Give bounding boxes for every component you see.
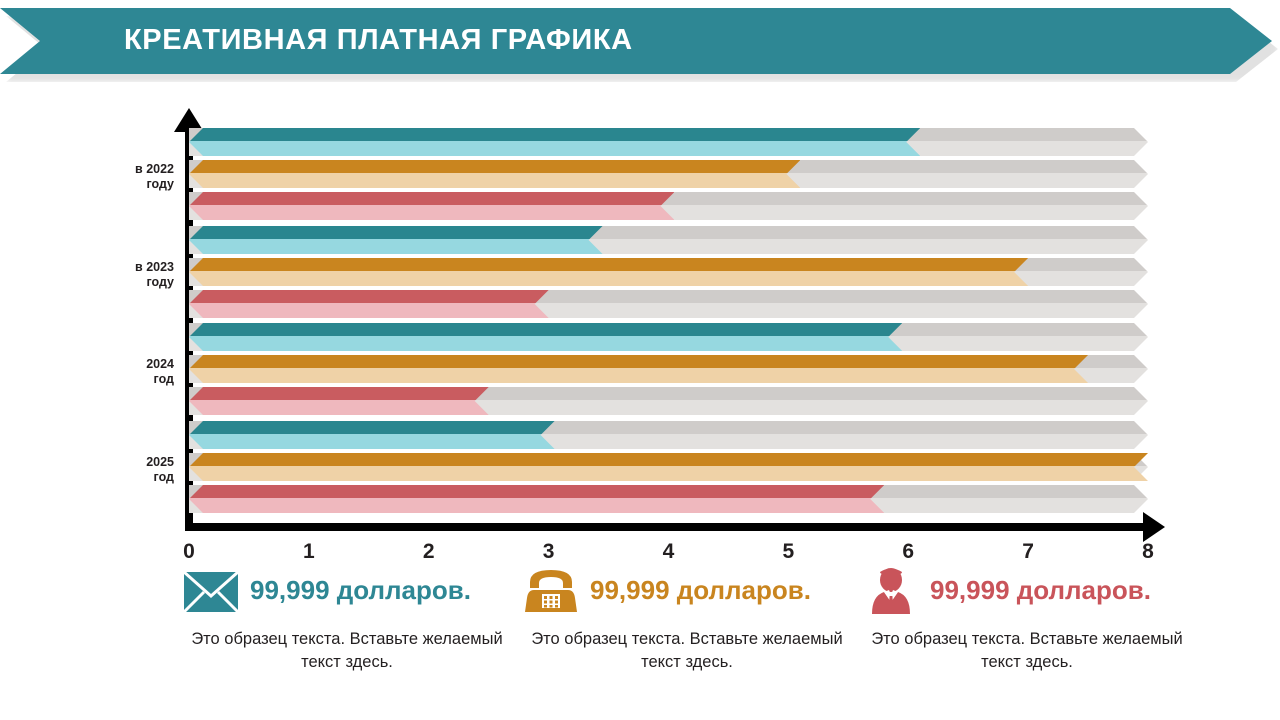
- bar-top-face: [189, 323, 902, 336]
- bar-teal-3: [189, 421, 555, 449]
- bar-top-face: [189, 128, 920, 141]
- envelope-icon: [182, 566, 240, 618]
- x-axis-line: [185, 523, 1145, 531]
- bar-orange-3: [189, 453, 1148, 481]
- footer-stats: 99,999 долларов.Это образец текста. Вста…: [0, 566, 1280, 720]
- footer-stat-description: Это образец текста. Вставьте желаемый те…: [522, 628, 852, 674]
- bar-teal-1: [189, 226, 603, 254]
- bar-red-2: [189, 387, 489, 415]
- bar-bottom-face: [189, 466, 1148, 481]
- title-banner: КРЕАТИВНАЯ ПЛАТНАЯ ГРАФИКА: [0, 8, 1280, 76]
- footer-stat-header: 99,999 долларов.: [182, 566, 542, 622]
- x-tick-1: 1: [289, 540, 329, 564]
- x-tick-8: 8: [1128, 540, 1168, 564]
- footer-stat-description: Это образец текста. Вставьте желаемый те…: [862, 628, 1192, 674]
- businessman-icon: [862, 566, 920, 618]
- x-tick-3: 3: [529, 540, 569, 564]
- envelope-icon: [182, 566, 240, 618]
- x-tick-5: 5: [768, 540, 808, 564]
- footer-stat-2[interactable]: 99,999 долларов.Это образец текста. Вста…: [522, 566, 882, 674]
- x-tick-4: 4: [649, 540, 689, 564]
- bar-top-face: [189, 453, 1148, 466]
- y-axis-label-3: 2025год: [88, 455, 174, 485]
- footer-stat-value: 99,999 долларов.: [590, 568, 811, 614]
- businessman-icon: [862, 566, 920, 618]
- bar-bottom-face: [189, 400, 489, 415]
- bar-bottom-face: [189, 303, 549, 318]
- bar-bottom-face: [189, 205, 674, 220]
- footer-stat-value: 99,999 долларов.: [930, 568, 1151, 614]
- footer-stat-3[interactable]: 99,999 долларов.Это образец текста. Вста…: [862, 566, 1222, 674]
- telephone-icon: [522, 566, 580, 618]
- bar-red-1: [189, 290, 549, 318]
- bar-bottom-face: [189, 368, 1088, 383]
- x-axis-arrow-icon: [1143, 512, 1165, 542]
- bar-teal-0: [189, 128, 920, 156]
- bar-top-face: [189, 258, 1028, 271]
- bar-bottom-face: [189, 498, 884, 513]
- bar-bottom-face: [189, 434, 555, 449]
- y-axis-label-2: 2024год: [88, 357, 174, 387]
- footer-stat-value: 99,999 долларов.: [250, 568, 471, 614]
- bar-orange-2: [189, 355, 1088, 383]
- footer-stat-header: 99,999 долларов.: [862, 566, 1222, 622]
- bar-top-face: [189, 192, 674, 205]
- bar-orange-0: [189, 160, 800, 188]
- x-tick-6: 6: [888, 540, 928, 564]
- footer-stat-header: 99,999 долларов.: [522, 566, 882, 622]
- bar-bottom-face: [189, 336, 902, 351]
- bar-top-face: [189, 485, 884, 498]
- bar-top-face: [189, 160, 800, 173]
- bar-red-3: [189, 485, 884, 513]
- y-axis-label-1: в 2023году: [88, 260, 174, 290]
- x-tick-0: 0: [169, 540, 209, 564]
- bar-bottom-face: [189, 271, 1028, 286]
- footer-stat-1[interactable]: 99,999 долларов.Это образец текста. Вста…: [182, 566, 542, 674]
- footer-stat-description: Это образец текста. Вставьте желаемый те…: [182, 628, 512, 674]
- bar-orange-1: [189, 258, 1028, 286]
- bar-top-face: [189, 226, 603, 239]
- bar-top-face: [189, 421, 555, 434]
- bar-bottom-face: [189, 239, 603, 254]
- x-tick-7: 7: [1008, 540, 1048, 564]
- bar-top-face: [189, 387, 489, 400]
- y-axis-label-0: в 2022году: [88, 162, 174, 192]
- x-tick-2: 2: [409, 540, 449, 564]
- bar-bottom-face: [189, 141, 920, 156]
- bar-top-face: [189, 355, 1088, 368]
- bar-red-0: [189, 192, 674, 220]
- bar-chart: в 2022годув 2023году2024год2025год 01234…: [0, 96, 1280, 566]
- telephone-icon: [522, 566, 580, 618]
- bar-bottom-face: [189, 173, 800, 188]
- bar-top-face: [189, 290, 549, 303]
- page-title: КРЕАТИВНАЯ ПЛАТНАЯ ГРАФИКА: [124, 8, 633, 74]
- bar-teal-2: [189, 323, 902, 351]
